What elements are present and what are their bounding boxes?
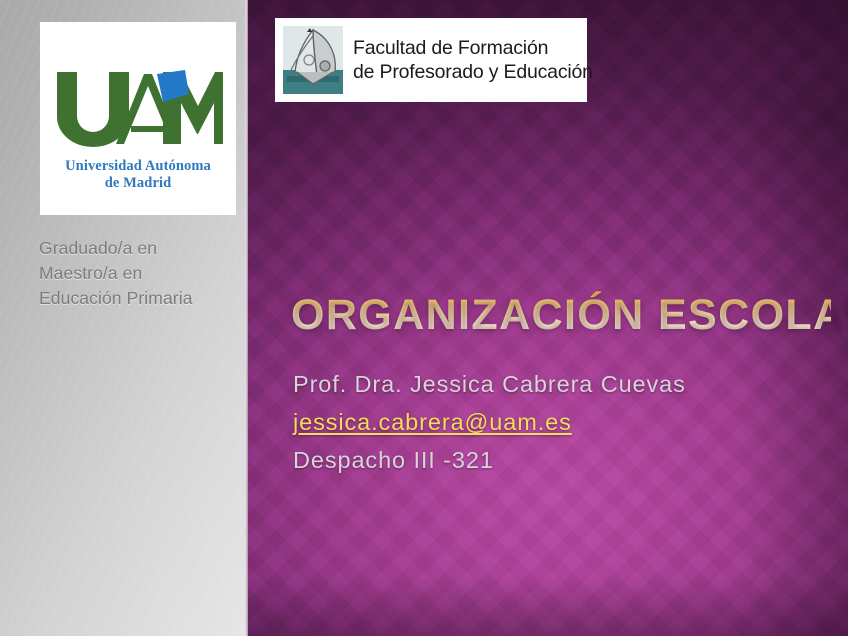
instructor-email-link[interactable]: jessica.cabrera@uam.es xyxy=(293,403,793,441)
uam-subtitle-line1: Universidad Autónoma xyxy=(40,158,236,175)
facultad-text-line2: de Profesorado y Educación xyxy=(353,60,593,84)
uam-subtitle: Universidad Autónoma de Madrid xyxy=(40,158,236,192)
sailboat-emblem-icon xyxy=(283,26,343,94)
degree-caption: Graduado/a en Maestro/a en Educación Pri… xyxy=(39,236,244,311)
facultad-logo-text: Facultad de Formación de Profesorado y E… xyxy=(353,36,593,84)
instructor-name: Prof. Dra. Jessica Cabrera Cuevas xyxy=(293,365,793,403)
degree-caption-line-1: Graduado/a en xyxy=(39,236,244,261)
instructor-office: Despacho III -321 xyxy=(293,441,793,479)
uam-logo-card: Universidad Autónoma de Madrid xyxy=(40,22,236,215)
degree-caption-line-2: Maestro/a en xyxy=(39,261,244,286)
facultad-logo-card: Facultad de Formación de Profesorado y E… xyxy=(275,18,587,102)
degree-caption-line-3: Educación Primaria xyxy=(39,286,244,311)
facultad-text-line1: Facultad de Formación xyxy=(353,36,593,60)
uam-wordmark-icon xyxy=(53,70,223,148)
uam-wordmark xyxy=(40,70,236,148)
uam-subtitle-line2: de Madrid xyxy=(40,175,236,192)
sidebar-divider xyxy=(245,0,248,636)
slide-title: ORGANIZACIÓN ESCOLAR xyxy=(291,291,831,340)
slide-body: Prof. Dra. Jessica Cabrera Cuevas jessic… xyxy=(293,365,793,479)
presentation-slide: Universidad Autónoma de Madrid Graduado/… xyxy=(0,0,848,636)
